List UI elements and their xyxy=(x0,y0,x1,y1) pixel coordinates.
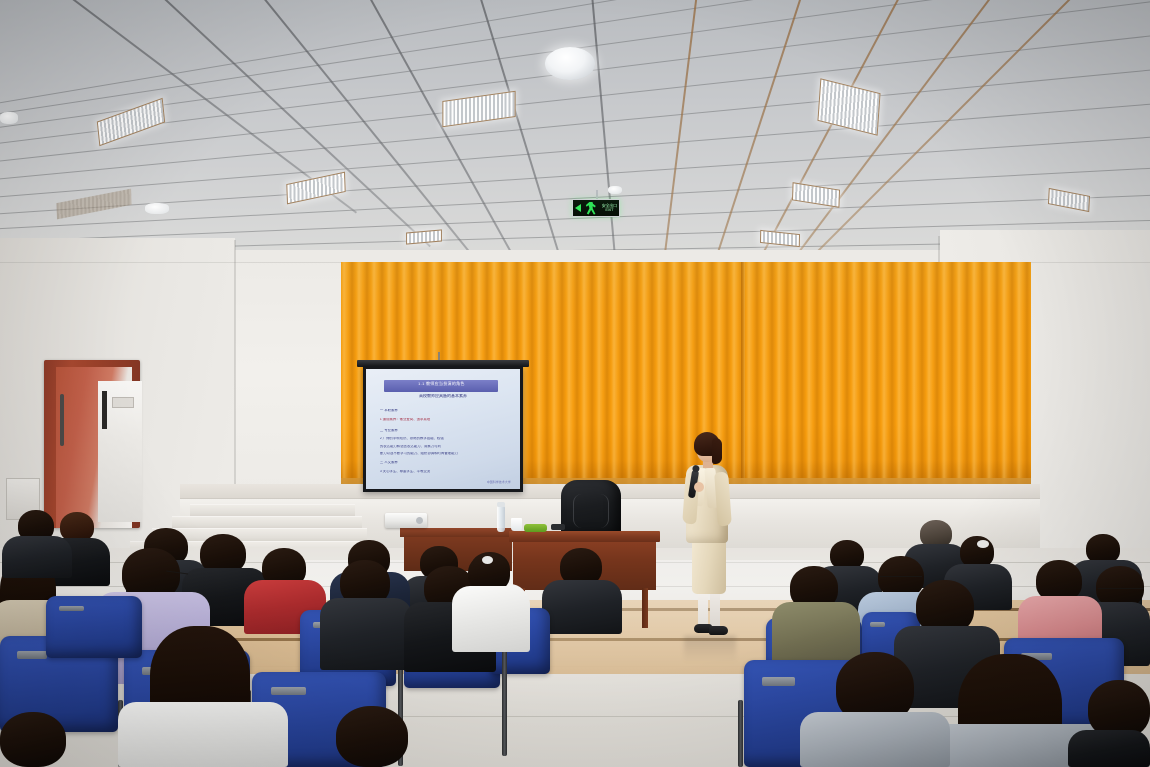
door-slot xyxy=(102,391,107,429)
audience-person xyxy=(1068,730,1150,767)
emergency-exit-sign: 安全出口 EXIT xyxy=(572,199,620,217)
presenter-hand xyxy=(694,482,704,492)
presenter xyxy=(676,432,738,640)
running-man-icon xyxy=(585,202,597,215)
slide-title-bar: 1.1 教师应当扮演的角色 xyxy=(384,380,498,392)
head-table-top xyxy=(509,531,660,542)
audience-head xyxy=(336,706,408,767)
lecture-hall-photo: 安全出口 EXIT 1.1 教师应当扮演的角色 高校教师应具备的基本素养 一 xyxy=(0,0,1150,767)
slide-bullet: 断力以及不断学习的能力、组织协调和时间管理能力 xyxy=(380,452,509,456)
door-sign xyxy=(112,397,134,408)
slide-bullet: 2 广博的学科知识、熟练的教学技能、较强 xyxy=(380,437,509,441)
smoke-detector xyxy=(608,186,622,194)
audience-person xyxy=(800,712,950,767)
side-door[interactable] xyxy=(44,360,140,528)
presenter-leg xyxy=(710,592,720,628)
audience-person xyxy=(320,598,412,670)
hair-clip xyxy=(977,540,989,548)
ceiling-light-fixture xyxy=(406,229,442,244)
ceiling-light-fixture xyxy=(97,98,165,147)
ceiling-vent xyxy=(56,189,131,220)
slide-bullet: 1 道德素养：敬业爱岗、追求真理 xyxy=(380,418,509,422)
eyeglasses-icon xyxy=(1098,588,1144,591)
audience-person xyxy=(118,702,288,767)
audience-person xyxy=(452,586,530,652)
seat-frame xyxy=(738,700,743,767)
audience-person xyxy=(2,536,72,578)
audience-person xyxy=(542,580,622,634)
smoke-detector xyxy=(145,203,169,214)
presenter-leg xyxy=(698,592,708,628)
audience-head xyxy=(0,712,66,767)
door-panel[interactable] xyxy=(56,367,132,528)
door-handle[interactable] xyxy=(60,394,64,446)
slide-footer: 中国科学技术大学 xyxy=(487,480,511,484)
slide-title: 1.1 教师应当扮演的角色 xyxy=(384,380,498,386)
ceiling-light-fixture xyxy=(817,78,880,136)
slide-surface: 1.1 教师应当扮演的角色 高校教师应具备的基本素养 一 本职素养 1 道德素养… xyxy=(366,369,520,489)
exit-sign-text-en: EXIT xyxy=(605,207,613,212)
paper-cup xyxy=(511,518,522,531)
ceiling-light-fixture xyxy=(792,182,840,208)
seat-frame xyxy=(502,636,507,756)
projector-lens-icon xyxy=(416,517,423,524)
projection-screen: 1.1 教师应当扮演的角色 高校教师应具备的基本素养 一 本职素养 1 道德素养… xyxy=(363,366,523,492)
ceiling-light-fixture xyxy=(1048,188,1090,212)
slide-bullet: 二 专业素养 xyxy=(380,429,509,433)
hair-clip xyxy=(482,556,493,564)
remote-control xyxy=(551,524,565,530)
eyeglasses-icon xyxy=(880,576,922,579)
presenter-hair-side xyxy=(712,438,722,464)
dome-ceiling-light xyxy=(545,47,595,80)
exit-arrow-icon xyxy=(575,204,581,212)
water-bottle xyxy=(497,506,505,532)
auditorium-seat[interactable] xyxy=(46,596,142,658)
slide-bullet: 的表达能力和语言表达能力、洞察力与判 xyxy=(380,445,509,449)
green-object xyxy=(524,524,547,532)
exit-sign-text: 安全出口 EXIT xyxy=(602,204,617,212)
presenter-shoe xyxy=(709,626,728,635)
ceiling-light-fixture xyxy=(442,91,515,128)
projector xyxy=(385,513,427,528)
slide-subtitle: 高校教师应具备的基本素养 xyxy=(391,394,496,398)
slide-bullet: 3 关心学生、尊重学生、平等交流 xyxy=(380,470,509,474)
ceiling xyxy=(0,0,1150,268)
smoke-detector xyxy=(0,112,18,124)
slide-bullet: 三 人文素养 xyxy=(380,461,509,465)
executive-chair[interactable] xyxy=(561,480,621,538)
slide-bullet: 一 本职素养 xyxy=(380,409,509,413)
presenter-arm xyxy=(714,472,732,527)
presenter-skirt xyxy=(692,536,726,594)
